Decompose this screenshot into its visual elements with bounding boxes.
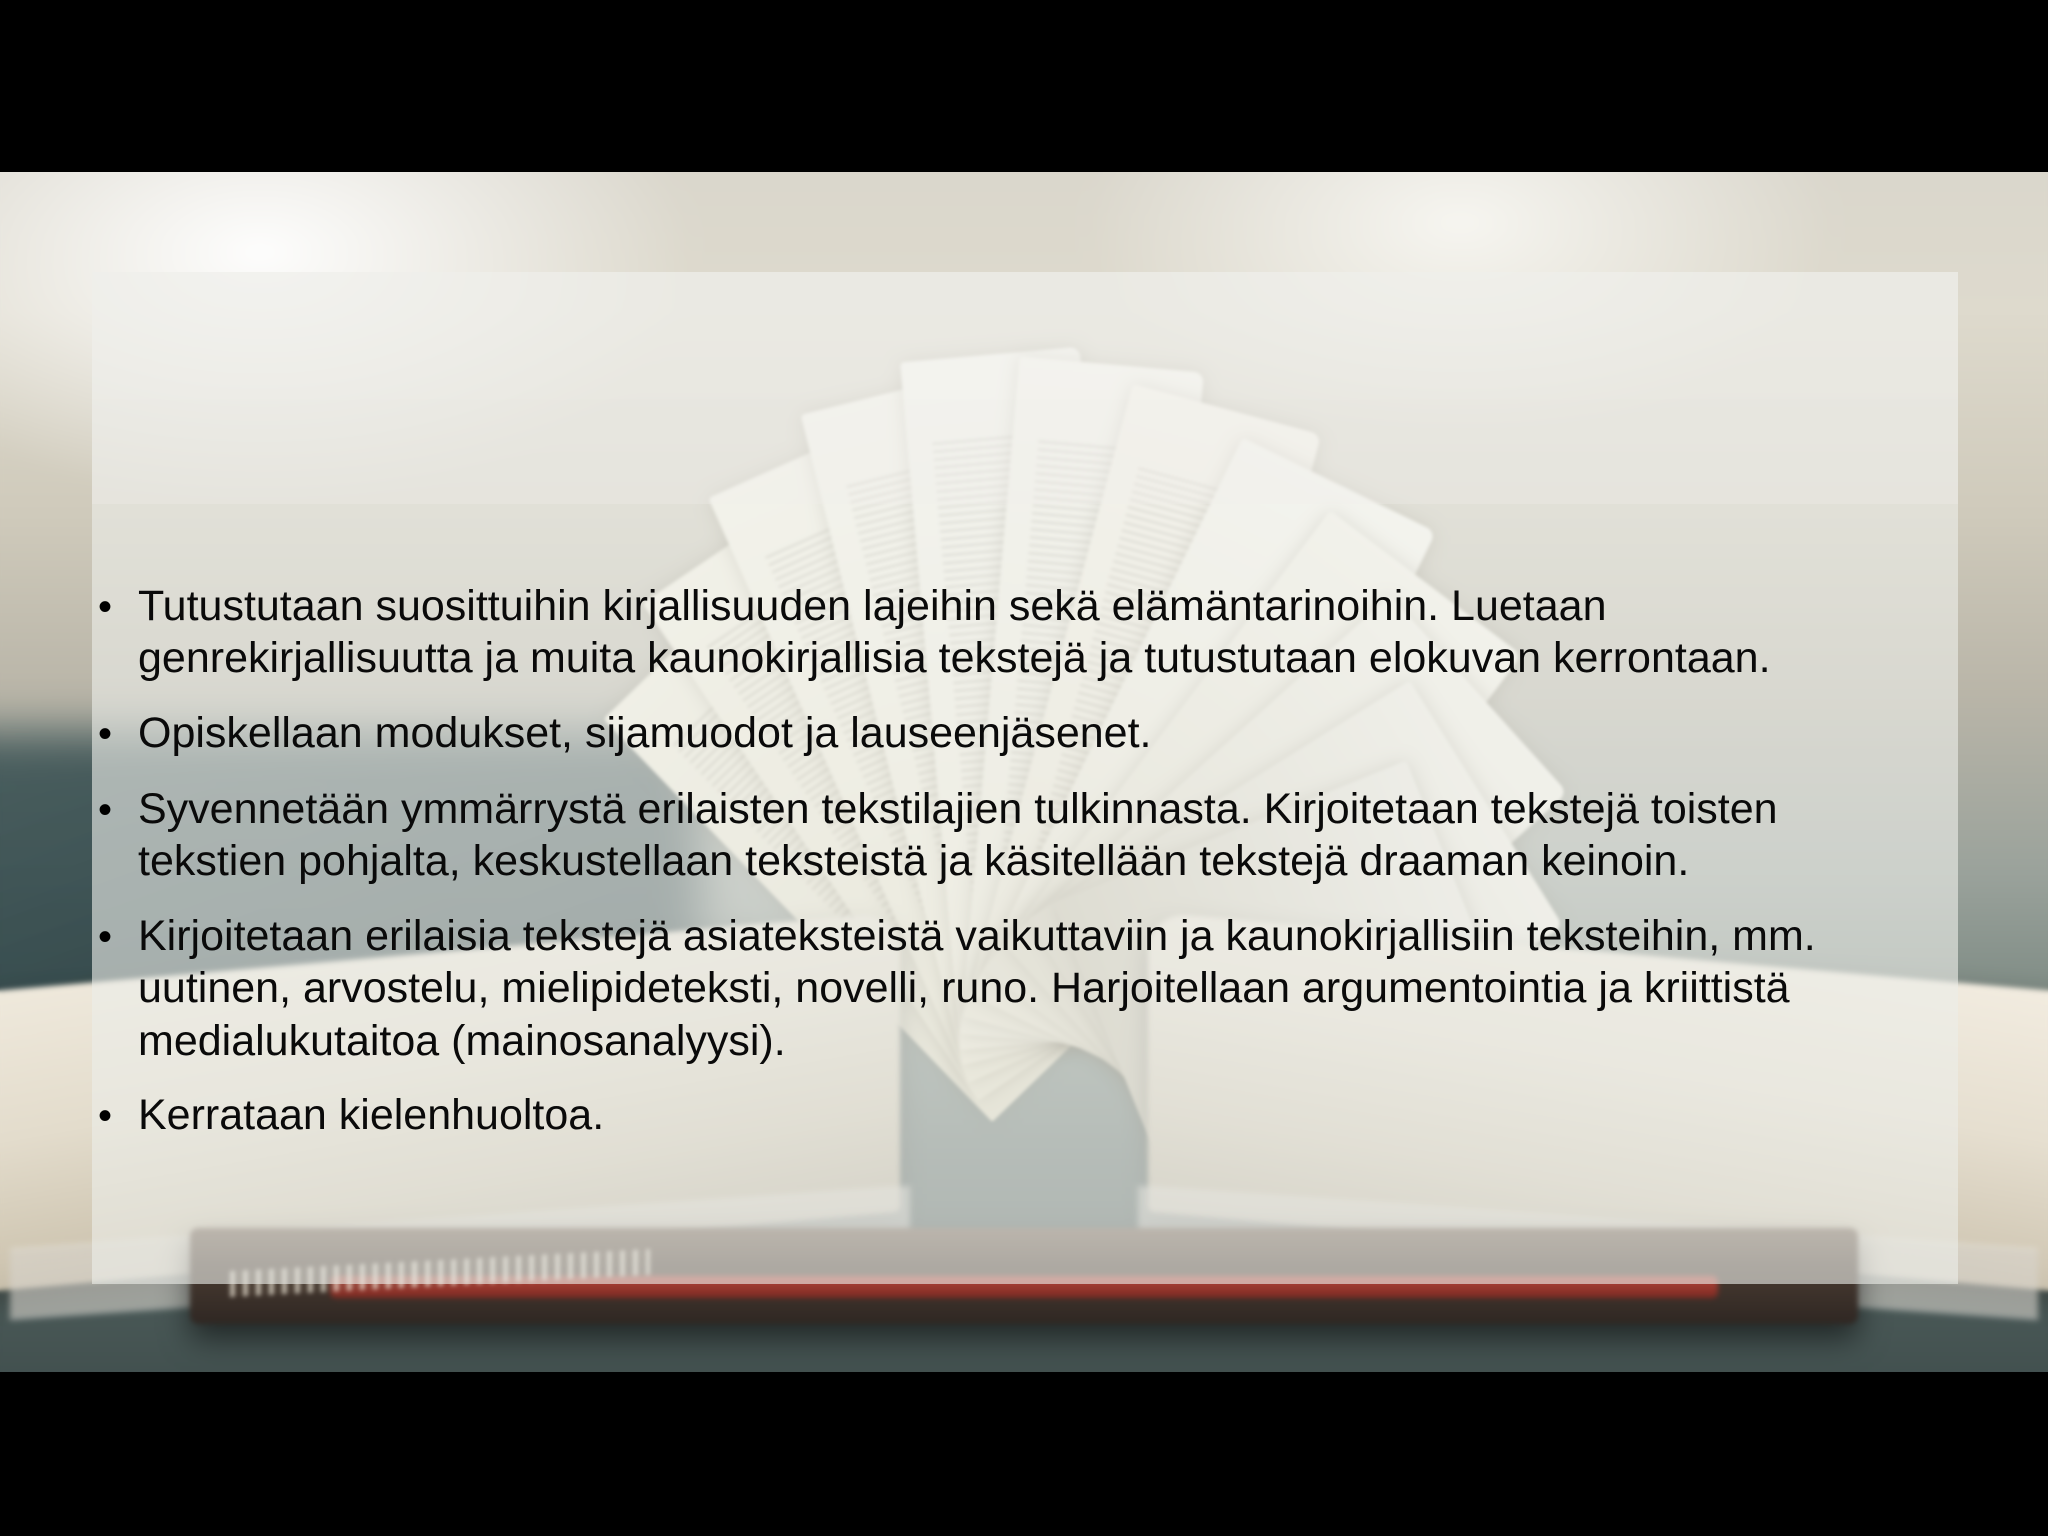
- bullet-marker-icon: •: [92, 783, 138, 837]
- bullet-list: • Tutustutaan suosittuihin kirjallisuude…: [92, 580, 1952, 1165]
- list-item-text: Syvennetään ymmärrystä erilaisten teksti…: [138, 783, 1952, 888]
- list-item-text: Kirjoitetaan erilaisia tekstejä asiateks…: [138, 910, 1952, 1067]
- bullet-marker-icon: •: [92, 910, 138, 964]
- bullet-marker-icon: •: [92, 707, 138, 761]
- bullet-marker-icon: •: [92, 580, 138, 634]
- list-item: • Tutustutaan suosittuihin kirjallisuude…: [92, 580, 1952, 685]
- list-item: • Opiskellaan modukset, sijamuodot ja la…: [92, 707, 1952, 761]
- list-item: • Kerrataan kielenhuoltoa.: [92, 1089, 1952, 1143]
- list-item: • Kirjoitetaan erilaisia tekstejä asiate…: [92, 910, 1952, 1067]
- list-item-text: Opiskellaan modukset, sijamuodot ja laus…: [138, 707, 1952, 759]
- list-item-text: Kerrataan kielenhuoltoa.: [138, 1089, 1952, 1141]
- list-item-text: Tutustutaan suosittuihin kirjallisuuden …: [138, 580, 1952, 685]
- title-band: [92, 272, 1958, 504]
- bullet-marker-icon: •: [92, 1089, 138, 1143]
- presentation-slide: Äidinkieli ja kirjallisuus 8.lk • Tutust…: [0, 0, 2048, 1536]
- list-item: • Syvennetään ymmärrystä erilaisten teks…: [92, 783, 1952, 888]
- letterbox-bar-bottom: [0, 1372, 2048, 1536]
- letterbox-bar-top: [0, 0, 2048, 172]
